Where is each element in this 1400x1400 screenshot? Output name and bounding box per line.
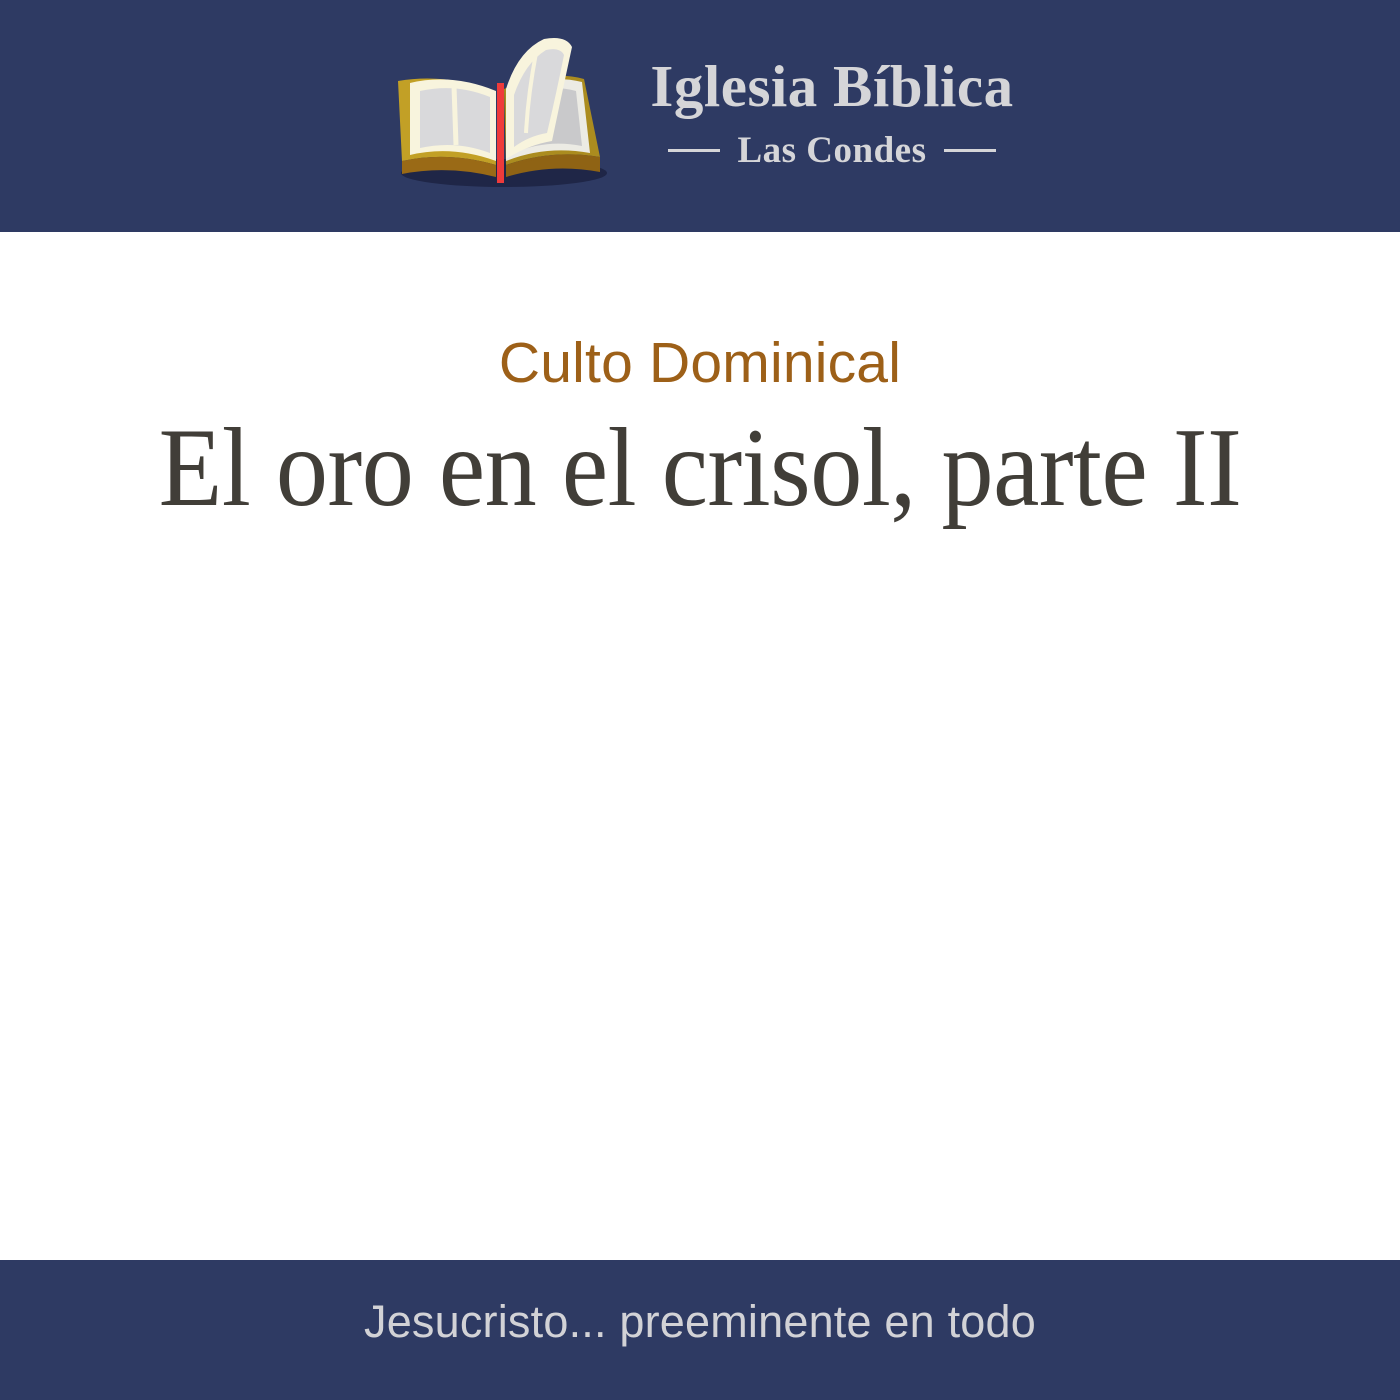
brand-subtitle-row: Las Condes xyxy=(668,132,995,169)
footer-bar: Jesucristo... preeminente en todo xyxy=(0,1260,1400,1400)
open-book-icon xyxy=(386,33,616,193)
rule-left-decoration xyxy=(668,149,720,152)
series-label: Culto Dominical xyxy=(100,332,1300,395)
brand-subtitle: Las Condes xyxy=(737,132,926,169)
header-bar: Iglesia Bíblica Las Condes xyxy=(0,0,1400,232)
rule-right-decoration xyxy=(944,149,996,152)
page-title: El oro en el crisol, parte II xyxy=(142,409,1258,528)
brand-name: Iglesia Bíblica xyxy=(650,57,1013,116)
main-content: Culto Dominical El oro en el crisol, par… xyxy=(0,232,1400,1260)
brand-text-block: Iglesia Bíblica Las Condes xyxy=(650,57,1013,169)
footer-tagline: Jesucristo... preeminente en todo xyxy=(364,1296,1036,1348)
title-block: Culto Dominical El oro en el crisol, par… xyxy=(0,332,1400,527)
sermon-cover-art: Iglesia Bíblica Las Condes Culto Dominic… xyxy=(0,0,1400,1400)
